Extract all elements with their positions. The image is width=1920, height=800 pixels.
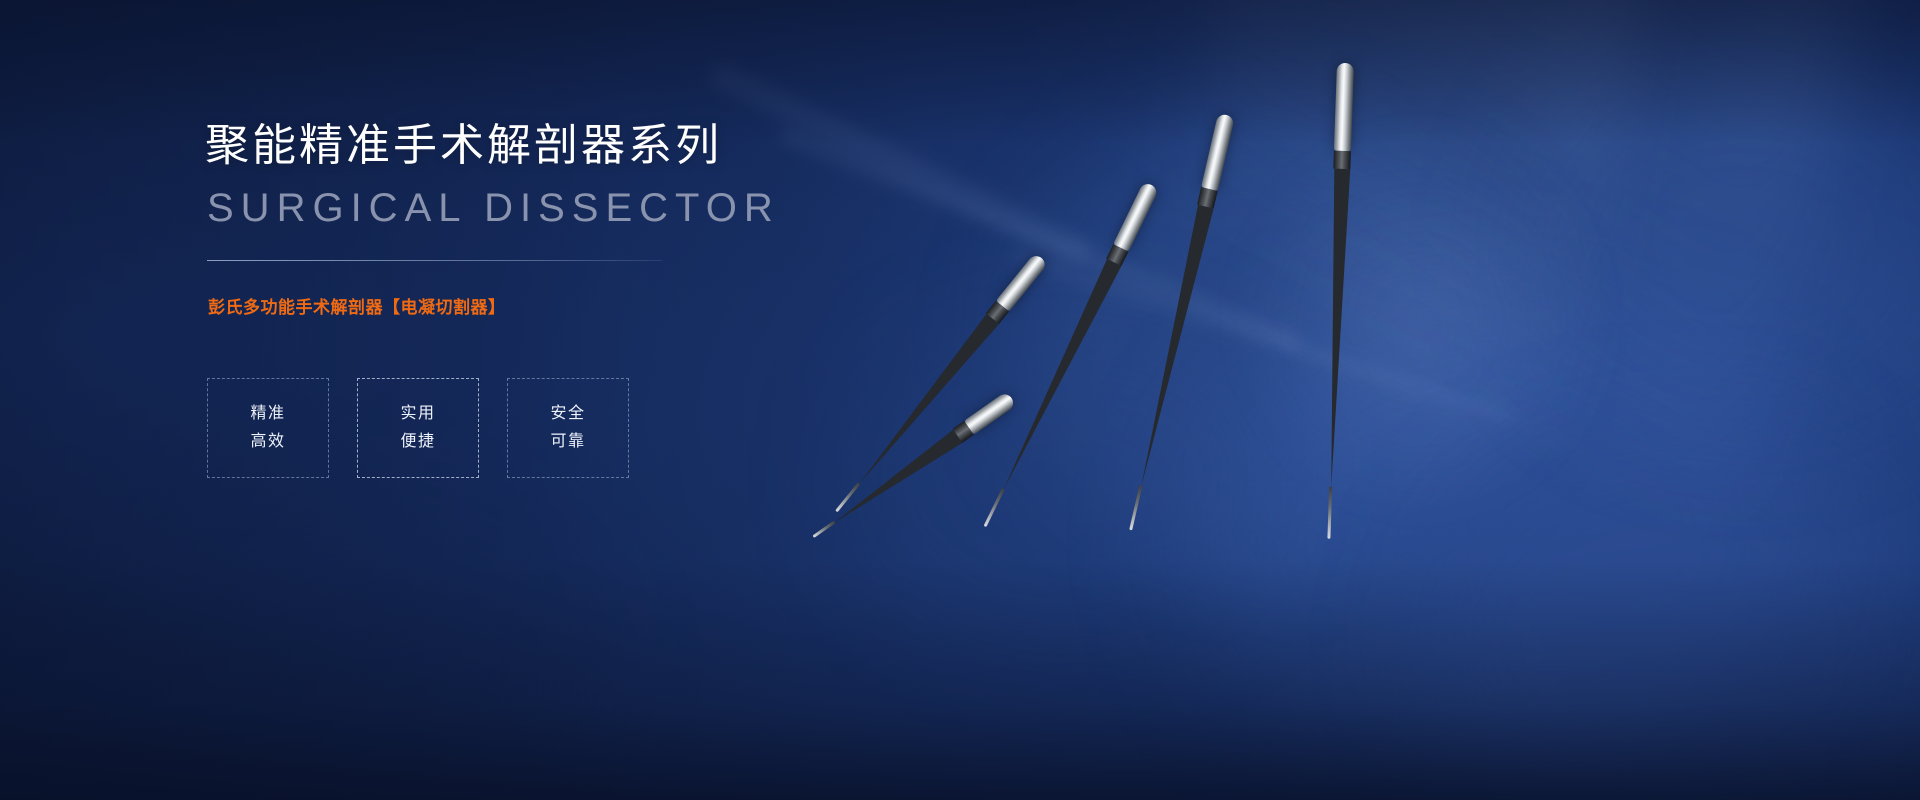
banner-content: 聚能精准手术解剖器系列 SURGICAL DISSECTOR 彭氏多功能手术解剖… [205,120,845,478]
feature-box-practical: 实用 便捷 [357,378,479,478]
feature-box-practical-line2: 便捷 [400,428,435,456]
feature-box-safety-line1: 安全 [550,400,585,428]
feature-box-practical-line1: 实用 [400,400,435,428]
feature-box-group: 精准 高效 实用 便捷 安全 可靠 [207,378,845,478]
feature-box-safety: 安全 可靠 [507,378,629,478]
page-subtitle-english: SURGICAL DISSECTOR [207,182,845,234]
feature-box-precision: 精准 高效 [207,378,329,478]
title-divider [207,260,662,261]
product-name-label: 彭氏多功能手术解剖器【电凝切割器】 [208,293,845,318]
feature-box-precision-line1: 精准 [250,400,285,428]
product-banner: 聚能精准手术解剖器系列 SURGICAL DISSECTOR 彭氏多功能手术解剖… [0,0,1920,800]
feature-box-precision-line2: 高效 [250,428,285,456]
page-title: 聚能精准手术解剖器系列 [205,120,845,172]
feature-box-safety-line2: 可靠 [550,428,585,456]
